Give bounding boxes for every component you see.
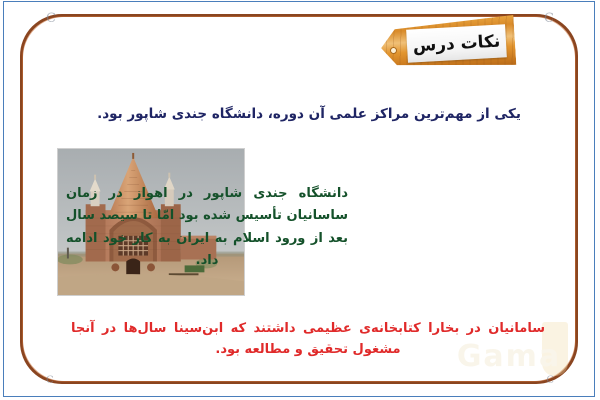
corner-mark-bottom-right-icon: C	[546, 376, 554, 386]
slide-canvas: C C C C Gama نکات درس یکی از مهم‌ترین مر…	[0, 0, 600, 400]
corner-mark-top-left-icon: C	[46, 12, 56, 25]
banner-title-text: نکات درس	[406, 24, 507, 62]
corner-mark-top-right-icon: C	[544, 12, 554, 25]
corner-mark-bottom-left-icon: C	[46, 376, 54, 386]
red-paragraph: سامانیان در بخارا کتابخانه‌ی عظیمی داشتن…	[71, 318, 545, 360]
lesson-notes-banner: نکات درس	[381, 19, 515, 69]
green-paragraph: دانشگاه جندی شاپور در اهواز در زمان ساسا…	[66, 183, 348, 272]
heading-line: یکی از مهم‌ترین مراکز علمی آن دوره، دانش…	[74, 104, 544, 124]
